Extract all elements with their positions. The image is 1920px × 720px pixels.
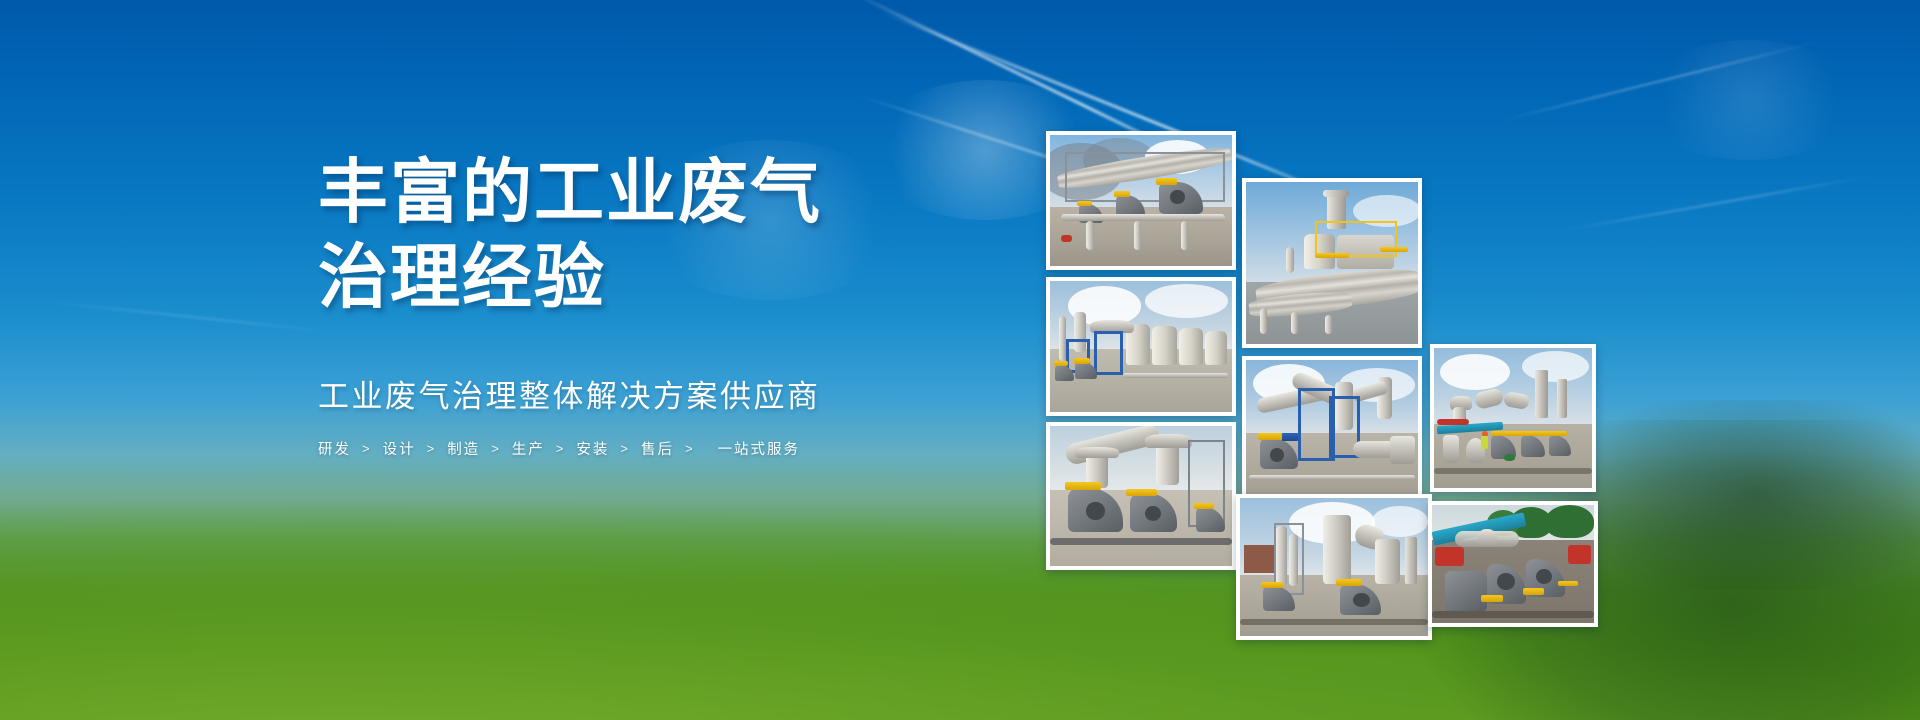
photo-tall-scrubber-stack[interactable] <box>1236 494 1432 640</box>
green-ground <box>0 470 1920 720</box>
page-title: 丰富的工业废气 治理经验 <box>318 150 938 321</box>
hero-text-block: 丰富的工业废气 治理经验 工业废气治理整体解决方案供应商 研发 > 设计 > 制… <box>318 150 938 459</box>
chevron-right-icon: > <box>491 441 501 456</box>
chevron-right-icon: > <box>427 441 437 456</box>
headline-line-2: 治理经验 <box>318 235 938 320</box>
photo-plant-overview-worker[interactable] <box>1430 344 1596 492</box>
photo-rto-incinerator-skid[interactable] <box>1242 178 1422 348</box>
chevron-right-icon: > <box>620 441 630 456</box>
breadcrumb-step-install: 安装 <box>576 438 609 459</box>
chevron-right-icon: > <box>556 441 566 456</box>
headline-line-1: 丰富的工业废气 <box>318 150 938 235</box>
contrail-streak <box>1500 40 1821 122</box>
hero-subtitle: 工业废气治理整体解决方案供应商 <box>318 371 938 416</box>
photo-duct-network-site[interactable] <box>1242 356 1422 504</box>
cloud-puff-icon <box>1640 40 1860 160</box>
chevron-right-icon: > <box>362 441 372 456</box>
photo-scrubber-tower-array[interactable] <box>1046 277 1236 416</box>
breadcrumb-step-onestop: 一站式服务 <box>718 438 801 459</box>
breadcrumb-step-design: 设计 <box>383 438 416 459</box>
breadcrumb-step-manufacture: 制造 <box>447 438 480 459</box>
contrail-streak <box>1560 174 1875 232</box>
breadcrumb-step-production: 生产 <box>512 438 545 459</box>
breadcrumb-step-aftersales: 售后 <box>641 438 674 459</box>
photo-fan-shipment-yard[interactable] <box>1428 501 1598 627</box>
breadcrumb-step-rd: 研发 <box>318 438 351 459</box>
photo-rto-pipeline-rack[interactable] <box>1046 131 1236 270</box>
contrail-streak <box>40 300 339 333</box>
photo-fan-units-rooftop[interactable] <box>1046 422 1236 570</box>
photo-collage <box>0 0 1920 720</box>
hero-banner: 丰富的工业废气 治理经验 工业废气治理整体解决方案供应商 研发 > 设计 > 制… <box>0 0 1920 720</box>
breadcrumb: 研发 > 设计 > 制造 > 生产 > 安装 > 售后 > 一站式服务 <box>318 438 938 459</box>
chevron-right-icon: > <box>685 441 695 456</box>
